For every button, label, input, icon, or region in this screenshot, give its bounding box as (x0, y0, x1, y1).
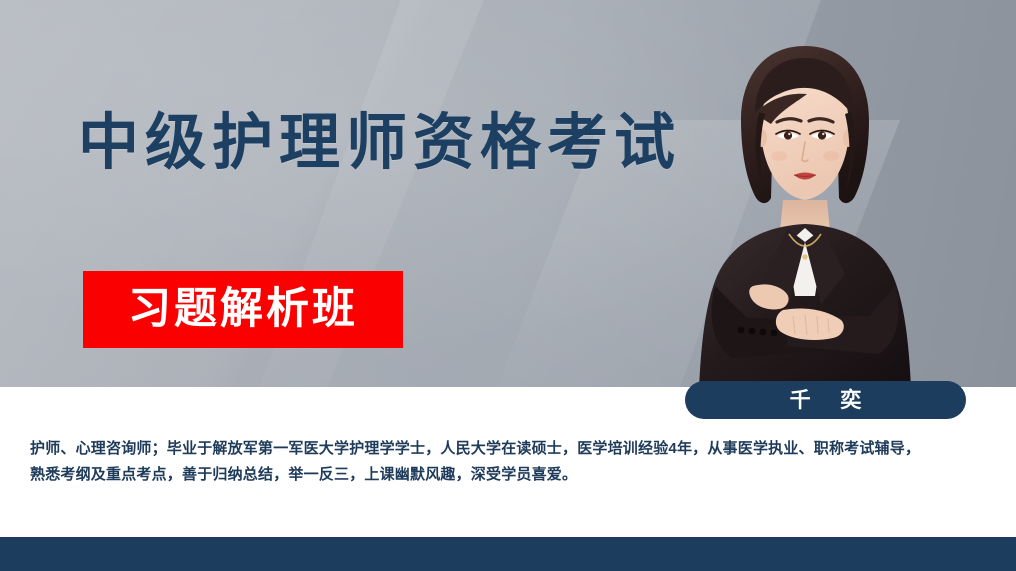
course-type-badge: 习题解析班 (83, 271, 403, 348)
footer-bar (0, 537, 1016, 571)
instructor-name-badge: 千 奕 (685, 381, 966, 419)
instructor-bio-line-1: 护师、心理咨询师；毕业于解放军第一军医大学护理学学士，人民大学在读硕士，医学培训… (30, 436, 992, 462)
instructor-bio: 护师、心理咨询师；毕业于解放军第一军医大学护理学学士，人民大学在读硕士，医学培训… (30, 436, 992, 488)
page-title: 中级护理师资格考试 (78, 106, 681, 178)
instructor-name-label: 千 奕 (778, 390, 874, 411)
course-cover-slide: 中级护理师资格考试 习题解析班 千 奕 护师、心理咨询师；毕业于解放军第一军医大… (0, 0, 1016, 571)
instructor-bio-line-2: 熟悉考纲及重点考点，善于归纳总结，举一反三，上课幽默风趣，深受学员喜爱。 (30, 462, 992, 488)
instructor-portrait-image (655, 28, 955, 388)
background-diagonal-band-left (0, 0, 500, 480)
course-type-badge-label: 习题解析班 (128, 288, 358, 331)
